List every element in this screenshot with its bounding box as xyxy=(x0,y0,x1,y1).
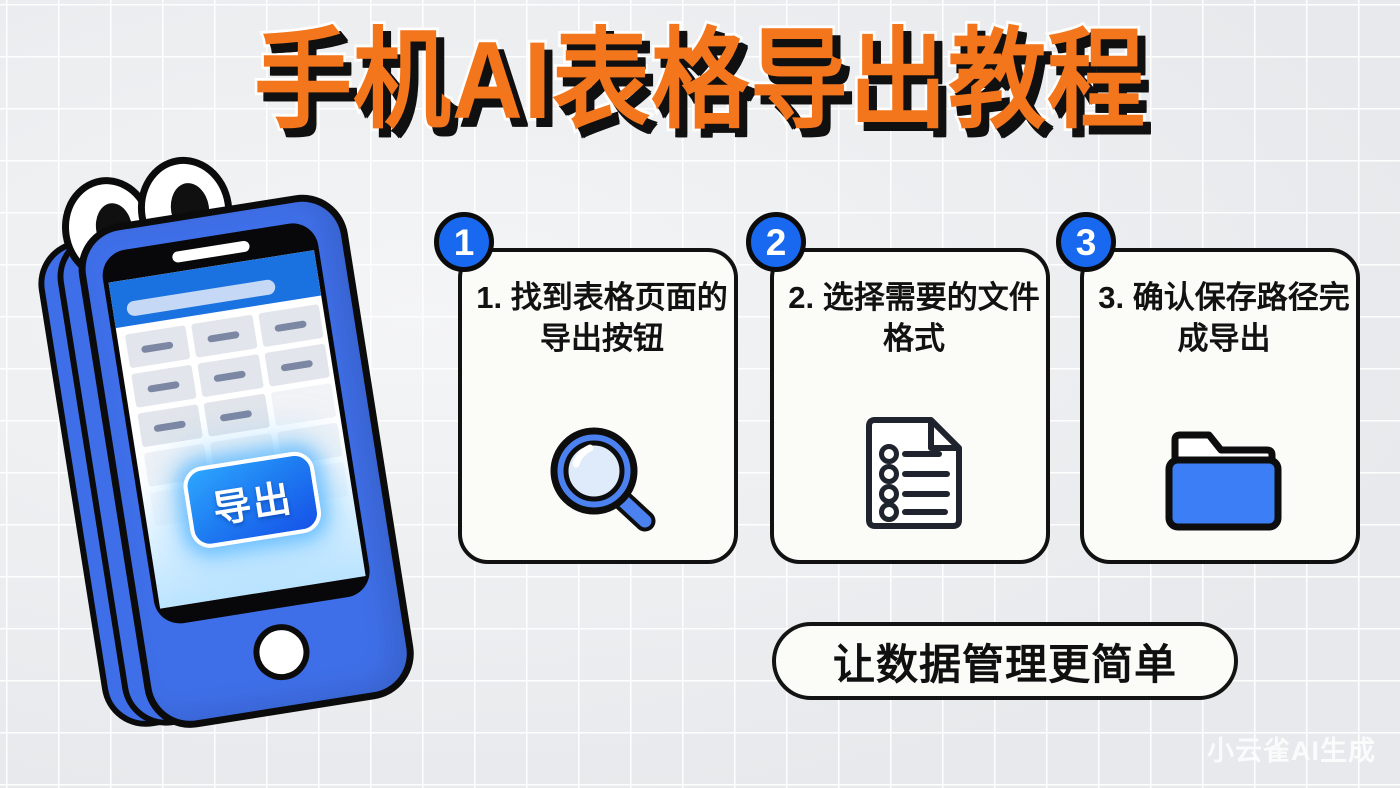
cell-value-bar xyxy=(274,320,307,332)
spreadsheet-cell xyxy=(191,315,257,358)
step-badge-3: 3 xyxy=(1056,212,1116,272)
step-text-3: 3. 确认保存路径完成导出 xyxy=(1098,278,1350,360)
magnifier-icon xyxy=(542,422,662,534)
document-list-icon xyxy=(861,416,967,534)
spreadsheet-cell xyxy=(131,365,197,408)
step-badge-1: 1 xyxy=(434,212,494,272)
phone-screen: 导出 xyxy=(109,250,366,608)
tagline-pill: 让数据管理更简单 xyxy=(772,622,1238,700)
step-card-3[interactable]: 3 3. 确认保存路径完成导出 xyxy=(1080,248,1360,564)
spreadsheet-cell xyxy=(125,325,191,368)
export-button-label: 导出 xyxy=(208,466,296,533)
folder-icon xyxy=(1163,428,1285,534)
step-icon-3-wrap xyxy=(1084,428,1364,534)
cell-value-bar xyxy=(280,360,313,372)
step-icon-1-wrap xyxy=(462,422,742,534)
cell-value-bar xyxy=(220,410,253,422)
step-icon-2-wrap xyxy=(774,416,1054,534)
infographic-canvas: 手机AI表格导出教程 xyxy=(0,0,1400,788)
phone-character-illustration: 导出 xyxy=(48,150,448,770)
phone-speaker-bar xyxy=(172,240,251,263)
cell-value-bar xyxy=(147,381,180,393)
spreadsheet-cell xyxy=(204,394,270,437)
spreadsheet-cell xyxy=(258,304,324,347)
spreadsheet-cell xyxy=(270,383,336,426)
step-card-1[interactable]: 1 1. 找到表格页面的导出按钮 xyxy=(458,248,738,564)
tagline-text: 让数据管理更简单 xyxy=(833,631,1177,692)
page-title: 手机AI表格导出教程 xyxy=(0,24,1400,126)
step-text-1: 1. 找到表格页面的导出按钮 xyxy=(476,278,728,360)
cell-value-bar xyxy=(141,341,174,353)
step-card-2[interactable]: 2 2. 选择需要的文件格式 xyxy=(770,248,1050,564)
phone-rotation-group: 导出 xyxy=(2,123,494,788)
spreadsheet-cell xyxy=(198,354,264,397)
page-title-text: 手机AI表格导出教程 xyxy=(254,24,1146,138)
cell-value-bar xyxy=(214,370,247,382)
cell-value-bar xyxy=(207,331,240,343)
step-text-2: 2. 选择需要的文件格式 xyxy=(788,278,1040,360)
step-badge-2: 2 xyxy=(746,212,806,272)
watermark: 小云雀AI生成 xyxy=(1207,729,1376,768)
cell-value-bar xyxy=(153,420,186,432)
app-title-placeholder-bar xyxy=(126,279,276,317)
home-button[interactable] xyxy=(249,620,313,684)
spreadsheet-cell xyxy=(264,344,330,387)
phone-bezel: 导出 xyxy=(99,220,373,627)
spreadsheet-cell xyxy=(137,404,203,447)
